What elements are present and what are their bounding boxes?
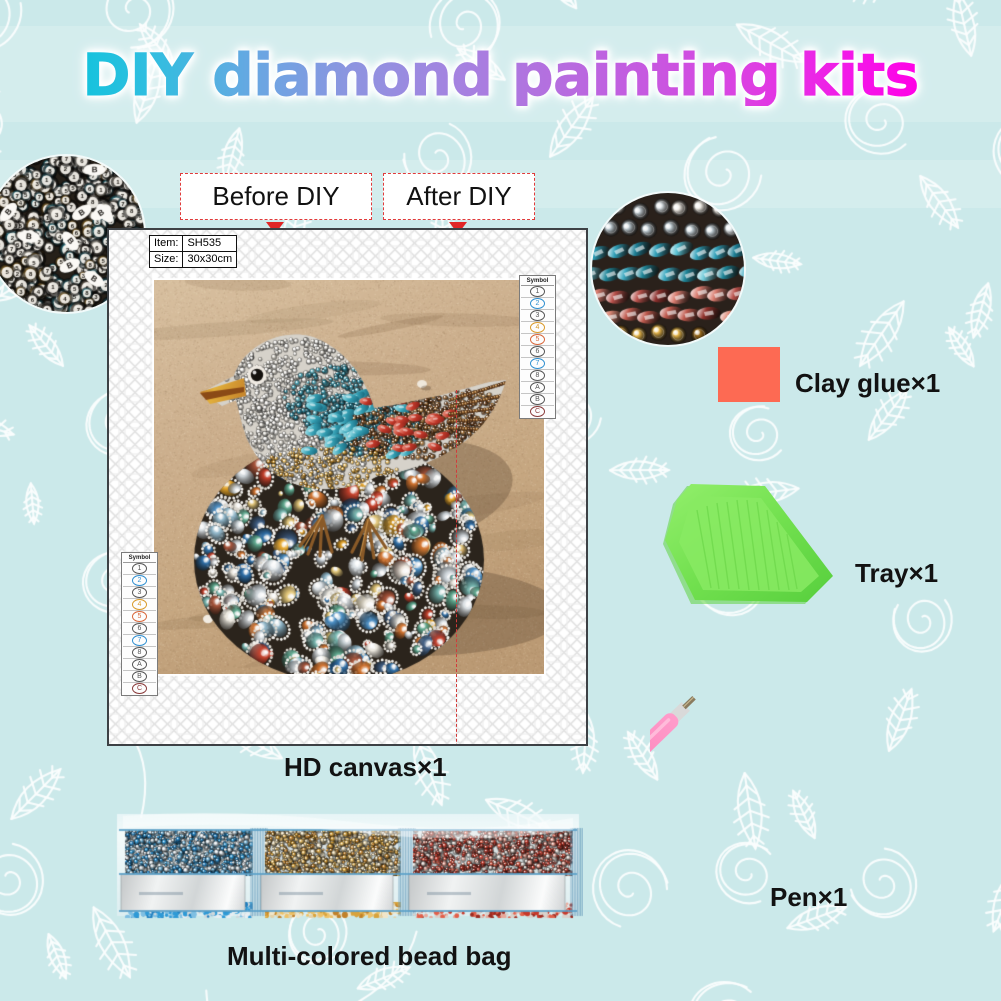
symbol-glyph: 4 — [530, 322, 545, 333]
symbol-glyph: C — [132, 683, 147, 694]
symbol-row: 1 — [521, 286, 554, 298]
symbol-row: A — [521, 382, 554, 394]
symbol-row: 2 — [123, 575, 156, 587]
tray-icon — [655, 478, 840, 638]
bead-bag-image — [113, 806, 583, 926]
hd-canvas-sheet: Item: SH535 Size: 30x30cm Symbol 1234567… — [107, 228, 588, 746]
symbol-glyph: 7 — [132, 635, 147, 646]
symbol-row: 1 — [123, 563, 156, 575]
symbol-glyph: 3 — [530, 310, 545, 321]
symbol-glyph: A — [132, 659, 147, 670]
symbol-row: 4 — [123, 599, 156, 611]
symbol-glyph: 1 — [132, 563, 147, 574]
symbol-row: 7 — [521, 358, 554, 370]
item-value: SH535 — [183, 236, 237, 252]
bird-mosaic-artwork — [154, 280, 544, 674]
symbol-row: 5 — [521, 334, 554, 346]
hd-canvas-label: HD canvas×1 — [284, 752, 447, 783]
clay-glue-icon — [718, 347, 780, 402]
infographic-page: DIY diamond painting kits Before DIY Aft… — [0, 0, 1001, 1001]
symbol-row: 6 — [123, 623, 156, 635]
bead-bag-label: Multi-colored bead bag — [227, 941, 512, 972]
symbol-glyph: B — [530, 394, 545, 405]
symbol-row: C — [521, 406, 554, 417]
symbol-glyph: 8 — [530, 370, 545, 381]
symbol-row: A — [123, 659, 156, 671]
symbol-legend-right: Symbol 12345678ABC — [519, 275, 556, 419]
product-info-box: Item: SH535 Size: 30x30cm — [149, 235, 237, 268]
symbol-glyph: 5 — [132, 611, 147, 622]
symbol-legend-header: Symbol — [123, 554, 156, 563]
symbol-glyph: C — [530, 406, 545, 417]
symbol-row: 4 — [521, 322, 554, 334]
symbol-glyph: A — [530, 382, 545, 393]
pen-label: Pen×1 — [770, 882, 847, 913]
before-after-divider — [456, 390, 457, 746]
symbol-row: 8 — [123, 647, 156, 659]
item-key: Item: — [150, 236, 183, 252]
symbol-glyph: 5 — [530, 334, 545, 345]
page-title: DIY diamond painting kits — [82, 44, 918, 106]
before-diy-label: Before DIY — [180, 173, 372, 220]
after-diy-detail-circle — [592, 193, 744, 345]
after-diy-label: After DIY — [383, 173, 535, 220]
symbol-glyph: 2 — [132, 575, 147, 586]
symbol-row: 8 — [521, 370, 554, 382]
symbol-glyph: 4 — [132, 599, 147, 610]
symbol-row: 3 — [521, 310, 554, 322]
pen-icon — [650, 690, 900, 905]
symbol-row: 5 — [123, 611, 156, 623]
symbol-legend-header: Symbol — [521, 277, 554, 286]
symbol-glyph: 8 — [132, 647, 147, 658]
symbol-glyph: 7 — [530, 358, 545, 369]
symbol-glyph: 2 — [530, 298, 545, 309]
symbol-row: 7 — [123, 635, 156, 647]
symbol-legend-left: Symbol 12345678ABC — [121, 552, 158, 696]
size-key: Size: — [150, 252, 183, 268]
symbol-glyph: 3 — [132, 587, 147, 598]
symbol-row: 2 — [521, 298, 554, 310]
symbol-glyph: B — [132, 671, 147, 682]
tray-label: Tray×1 — [855, 558, 938, 589]
page-title-wrap: DIY diamond painting kits — [0, 44, 1001, 106]
symbol-glyph: 6 — [530, 346, 545, 357]
symbol-row: B — [521, 394, 554, 406]
symbol-row: C — [123, 683, 156, 694]
symbol-glyph: 6 — [132, 623, 147, 634]
symbol-row: B — [123, 671, 156, 683]
symbol-row: 3 — [123, 587, 156, 599]
symbol-glyph: 1 — [530, 286, 545, 297]
clay-glue-label: Clay glue×1 — [795, 368, 940, 399]
symbol-row: 6 — [521, 346, 554, 358]
size-value: 30x30cm — [183, 252, 237, 268]
